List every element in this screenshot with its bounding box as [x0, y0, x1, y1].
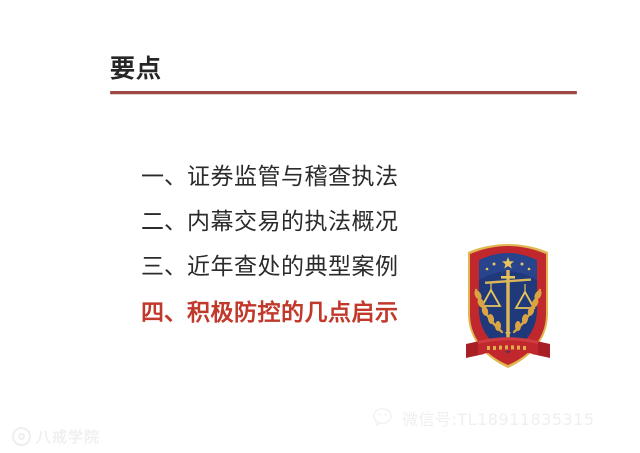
securities-regulator-emblem-icon: [460, 240, 556, 376]
slide-canvas: 要点 一、证券监管与稽查执法 二、内幕交易的执法概况 三、近年查处的典型案例 四…: [0, 0, 640, 453]
wechat-id-label: 微信号:TL18911835315: [402, 406, 595, 430]
agenda-item-2[interactable]: 二、内幕交易的执法概况: [141, 200, 471, 245]
page-title: 要点: [110, 52, 580, 86]
agenda-item-4-label: 积极防控的几点启示: [187, 299, 399, 326]
wechat-bubble-icon: [372, 406, 396, 430]
agenda-item-2-label: 内幕交易的执法概况: [187, 209, 399, 235]
agenda-item-4-number: 四、: [141, 299, 187, 326]
agenda-item-4[interactable]: 四、积极防控的几点启示: [141, 290, 471, 335]
agenda-list: 一、证券监管与稽查执法 二、内幕交易的执法概况 三、近年查处的典型案例 四、积极…: [141, 155, 471, 335]
title-underline-shadow: [110, 94, 577, 95]
brand-watermark-label: 八戒学院: [36, 426, 100, 447]
agenda-item-1[interactable]: 一、证券监管与稽查执法: [141, 155, 471, 200]
agenda-item-3-number: 三、: [141, 254, 187, 280]
agenda-item-3-label: 近年查处的典型案例: [187, 254, 399, 280]
wechat-watermark: 微信号:TL18911835315: [372, 406, 595, 430]
agenda-item-3[interactable]: 三、近年查处的典型案例: [141, 245, 471, 290]
title-block: 要点: [110, 52, 580, 95]
agenda-item-2-number: 二、: [141, 209, 187, 235]
agenda-item-1-label: 证券监管与稽查执法: [187, 164, 399, 190]
brand-watermark: 八戒学院: [12, 426, 100, 447]
agenda-item-1-number: 一、: [141, 164, 187, 190]
brand-logo-icon: [12, 427, 31, 446]
